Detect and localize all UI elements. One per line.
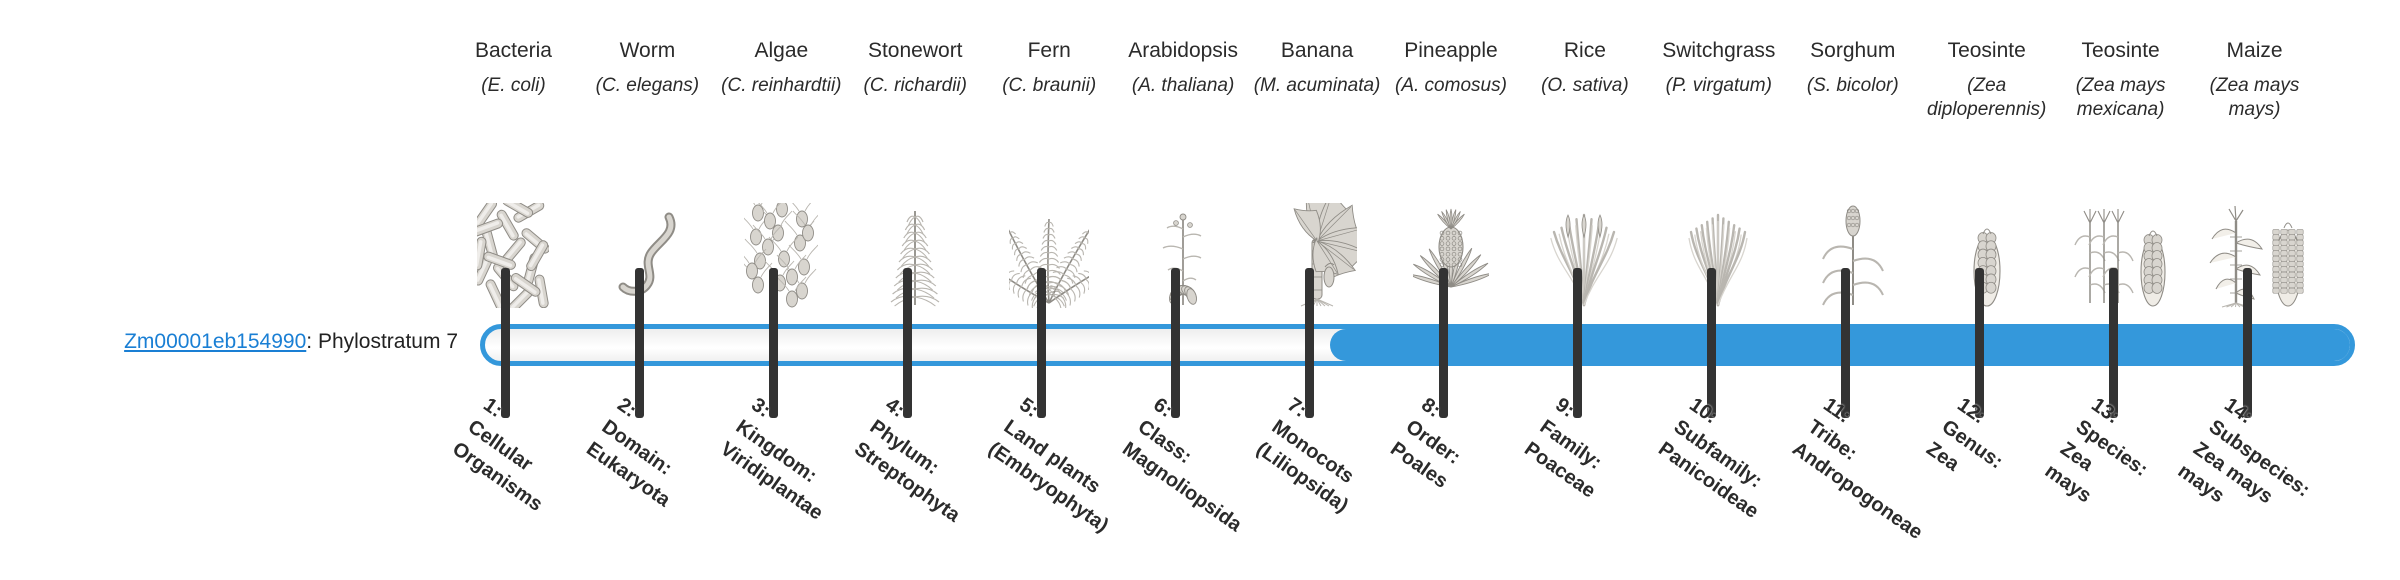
phylostratum-bar-track[interactable] — [480, 324, 2355, 366]
phylostratum-figure: Zm00001eb154990: Phylostratum 7 Bacteria… — [0, 0, 2400, 580]
species-column: Algae(C. reinhardtii) — [713, 0, 850, 320]
rank-label: 8:Order:Poales — [1384, 392, 1483, 495]
gene-label-separator: : — [306, 330, 318, 353]
species-column: Switchgrass(P. virgatum) — [1651, 0, 1788, 320]
species-column: Teosinte(Zea diploperennis) — [1918, 0, 2055, 320]
species-common-name: Switchgrass — [1651, 38, 1788, 64]
species-column: Bacteria(E. coli) — [445, 0, 582, 320]
species-scientific-name: (O. sativa) — [1517, 74, 1654, 98]
rank-label: 9:Family:Poaceae — [1518, 392, 1631, 505]
taxonomic-rank-labels: 1:CellularOrganisms2:Domain:Eukaryota3:K… — [480, 392, 2355, 580]
species-common-name: Teosinte — [1918, 38, 2055, 64]
phylostratum-value: Phylostratum 7 — [318, 330, 458, 353]
species-scientific-name: (M. acuminata) — [1249, 74, 1386, 98]
species-scientific-name: (C. elegans) — [579, 74, 716, 98]
species-column: Maize(Zea mays mays) — [2186, 0, 2323, 320]
species-scientific-name: (A. comosus) — [1383, 74, 1520, 98]
rank-label: 14:Subspecies:Zea maysmays — [2173, 392, 2331, 548]
rank-label: 3:Kingdom:Viridiplantae — [715, 392, 859, 527]
species-column: Rice(O. sativa) — [1517, 0, 1654, 320]
rank-label: 6:Class:Magnoliopsida — [1117, 392, 1278, 539]
species-common-name: Algae — [713, 38, 850, 64]
species-scientific-name: (Zea diploperennis) — [1918, 74, 2055, 122]
species-column: Pineapple(A. comosus) — [1383, 0, 1520, 320]
teosinte-plant-ear-icon — [2052, 203, 2189, 308]
gene-phylostratum-label: Zm00001eb154990: Phylostratum 7 — [0, 330, 470, 354]
species-common-name: Teosinte — [2052, 38, 2189, 64]
maize-plant-cob-icon — [2186, 203, 2323, 308]
arabidopsis-plant-icon — [1115, 203, 1252, 308]
species-column: Arabidopsis(A. thaliana) — [1115, 0, 1252, 320]
species-common-name: Worm — [579, 38, 716, 64]
species-common-name: Banana — [1249, 38, 1386, 64]
species-column: Fern(C. braunii) — [981, 0, 1118, 320]
species-column: Banana(M. acuminata) — [1249, 0, 1386, 320]
species-column: Worm(C. elegans) — [579, 0, 716, 320]
species-scientific-name: (C. richardii) — [847, 74, 984, 98]
species-column: Sorghum(S. bicolor) — [1784, 0, 1921, 320]
phylostratum-bar[interactable] — [480, 324, 2355, 366]
rank-label: 4:Phylum:Streptophyta — [849, 392, 996, 529]
species-common-name: Bacteria — [445, 38, 582, 64]
rank-label: 5:Land plants(Embryophyta) — [983, 392, 1145, 539]
rank-label: 10:Subfamily:Panicoideae — [1652, 392, 1794, 525]
bacteria-rods-icon — [445, 203, 582, 308]
species-common-name: Sorghum — [1784, 38, 1921, 64]
rank-label: 2:Domain:Eukaryota — [581, 392, 707, 514]
species-column: Stonewort(C. richardii) — [847, 0, 984, 320]
rice-plant-icon — [1517, 203, 1654, 308]
species-scientific-name: (C. braunii) — [981, 74, 1118, 98]
teosinte-ear-icon — [1918, 203, 2055, 308]
nematode-worm-icon — [579, 203, 716, 308]
species-scientific-name: (Zea mays mays) — [2186, 74, 2323, 122]
species-common-name: Arabidopsis — [1115, 38, 1252, 64]
rank-label: 13:Species:Zeamays — [2039, 392, 2168, 528]
species-common-name: Stonewort — [847, 38, 984, 64]
rank-label: 11:Tribe:Andropogoneae — [1786, 392, 1958, 546]
banana-tree-icon — [1249, 203, 1386, 308]
species-scientific-name: (C. reinhardtii) — [713, 74, 850, 98]
species-scientific-name: (E. coli) — [445, 74, 582, 98]
algae-cells-icon — [713, 203, 850, 308]
species-scientific-name: (P. virgatum) — [1651, 74, 1788, 98]
species-common-name: Maize — [2186, 38, 2323, 64]
species-scientific-name: (A. thaliana) — [1115, 74, 1252, 98]
switchgrass-plant-icon — [1651, 203, 1788, 308]
rank-label: 7:Monocots(Liliopsida) — [1250, 392, 1384, 520]
pineapple-plant-icon — [1383, 203, 1520, 308]
gene-id-link[interactable]: Zm00001eb154990 — [124, 330, 306, 353]
species-scientific-name: (Zea mays mexicana) — [2052, 74, 2189, 122]
sorghum-plant-icon — [1784, 203, 1921, 308]
species-columns: Bacteria(E. coli) — [480, 0, 2355, 320]
species-scientific-name: (S. bicolor) — [1784, 74, 1921, 98]
species-common-name: Pineapple — [1383, 38, 1520, 64]
fern-frond-icon — [981, 203, 1118, 308]
species-common-name: Fern — [981, 38, 1118, 64]
stonewort-plant-icon — [847, 203, 984, 308]
rank-label: 1:CellularOrganisms — [447, 392, 579, 518]
species-column: Teosinte(Zea mays mexicana) — [2052, 0, 2189, 320]
species-common-name: Rice — [1517, 38, 1654, 64]
